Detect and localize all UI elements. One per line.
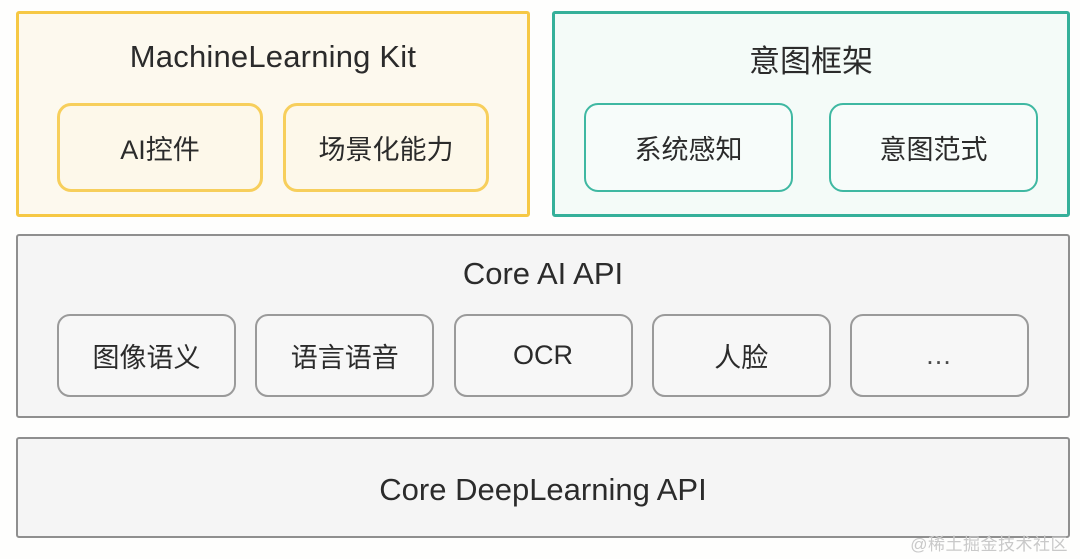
diagram-canvas: MachineLearning Kit AI控件 场景化能力 意图框架 系统感知…: [0, 0, 1080, 559]
panel-intent-framework: 意图框架 系统感知 意图范式: [552, 11, 1070, 217]
panel-title-intent-framework: 意图框架: [555, 36, 1067, 81]
pill-row-machinelearning-kit: AI控件 场景化能力: [19, 103, 527, 192]
capability-more[interactable]: …: [850, 314, 1029, 397]
capability-scenario-ability[interactable]: 场景化能力: [283, 103, 489, 192]
panel-core-ai-api: Core AI API 图像语义 语言语音 OCR 人脸 …: [16, 234, 1070, 418]
capability-language-speech[interactable]: 语言语音: [255, 314, 434, 397]
capability-ai-widget[interactable]: AI控件: [57, 103, 263, 192]
capability-face[interactable]: 人脸: [652, 314, 831, 397]
pill-row-intent-framework: 系统感知 意图范式: [555, 103, 1067, 192]
capability-intent-paradigm[interactable]: 意图范式: [829, 103, 1038, 192]
panel-title-core-ai-api: Core AI API: [18, 256, 1068, 292]
pill-row-core-ai-api: 图像语义 语言语音 OCR 人脸 …: [18, 314, 1068, 397]
panel-machinelearning-kit: MachineLearning Kit AI控件 场景化能力: [16, 11, 530, 217]
panel-core-deeplearning-api: Core DeepLearning API: [16, 437, 1070, 538]
capability-system-perception[interactable]: 系统感知: [584, 103, 793, 192]
panel-title-machinelearning-kit: MachineLearning Kit: [19, 39, 527, 75]
capability-ocr[interactable]: OCR: [454, 314, 633, 397]
capability-image-semantics[interactable]: 图像语义: [57, 314, 236, 397]
panel-title-core-deeplearning-api: Core DeepLearning API: [18, 472, 1068, 508]
